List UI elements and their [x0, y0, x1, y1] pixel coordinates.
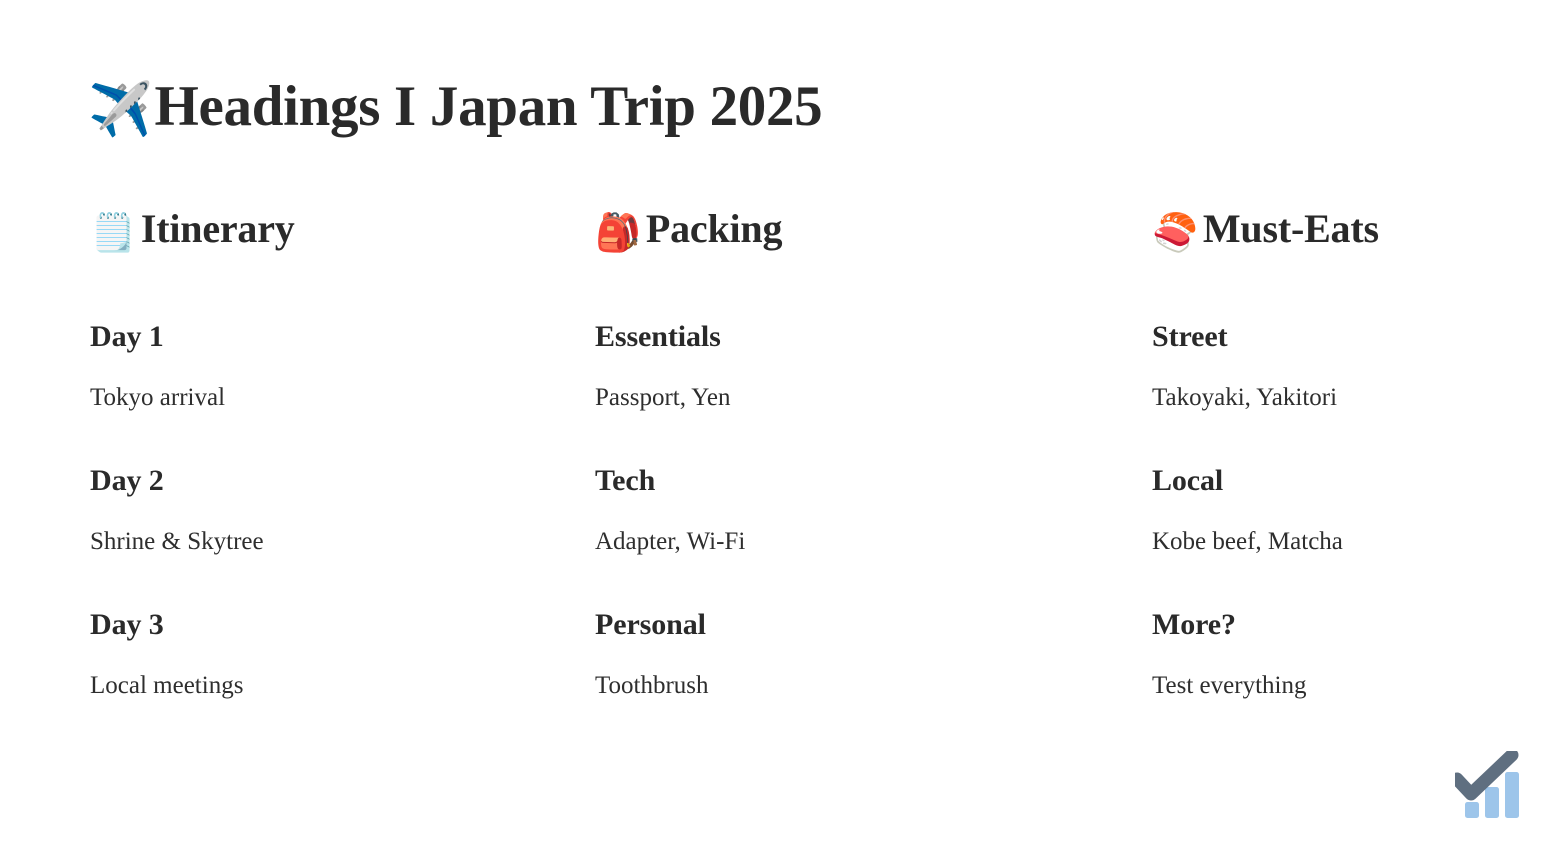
column-heading-itinerary: 🗒️Itinerary: [90, 205, 560, 253]
page-title-text: Headings I Japan Trip 2025: [154, 75, 822, 138]
entry-title: Local: [1152, 463, 1548, 499]
sushi-emoji: 🍣: [1152, 211, 1198, 254]
airplane-emoji: ✈️: [88, 80, 152, 140]
entry-body: Local meetings: [90, 671, 560, 701]
entry-title: Day 3: [90, 607, 560, 643]
entry-body: Kobe beef, Matcha: [1152, 527, 1548, 557]
entry-title: Street: [1152, 319, 1548, 355]
entry-title: More?: [1152, 607, 1548, 643]
document-page: ✈️Headings I Japan Trip 2025 🗒️Itinerary…: [0, 0, 1548, 848]
column-packing: 🎒Packing Essentials Passport, Yen Tech A…: [595, 205, 1065, 701]
column-heading-text: Must-Eats: [1203, 206, 1379, 251]
entry-title: Day 2: [90, 463, 560, 499]
entry-body: Test everything: [1152, 671, 1548, 701]
list-item: Personal Toothbrush: [595, 607, 1065, 701]
list-item: Day 2 Shrine & Skytree: [90, 463, 560, 557]
column-itinerary: 🗒️Itinerary Day 1 Tokyo arrival Day 2 Sh…: [90, 205, 560, 701]
entry-body: Takoyaki, Yakitori: [1152, 383, 1548, 413]
column-heading-text: Itinerary: [141, 206, 295, 251]
entry-title: Personal: [595, 607, 1065, 643]
entry-body: Shrine & Skytree: [90, 527, 560, 557]
entry-title: Day 1: [90, 319, 560, 355]
entry-body: Passport, Yen: [595, 383, 1065, 413]
list-item: Street Takoyaki, Yakitori: [1152, 319, 1548, 413]
list-item: More? Test everything: [1152, 607, 1548, 701]
entry-title: Tech: [595, 463, 1065, 499]
column-must-eats: 🍣Must-Eats Street Takoyaki, Yakitori Loc…: [1152, 205, 1548, 701]
entry-title: Essentials: [595, 319, 1065, 355]
entry-body: Tokyo arrival: [90, 383, 560, 413]
entry-body: Adapter, Wi-Fi: [595, 527, 1065, 557]
page-title: ✈️Headings I Japan Trip 2025: [88, 76, 822, 139]
list-item: Tech Adapter, Wi-Fi: [595, 463, 1065, 557]
entry-body: Toothbrush: [595, 671, 1065, 701]
column-heading-must-eats: 🍣Must-Eats: [1152, 205, 1548, 253]
list-item: Day 3 Local meetings: [90, 607, 560, 701]
column-heading-packing: 🎒Packing: [595, 205, 1065, 253]
backpack-emoji: 🎒: [595, 211, 641, 254]
checkmark-bar-chart-logo: [1455, 751, 1531, 821]
list-item: Local Kobe beef, Matcha: [1152, 463, 1548, 557]
column-heading-text: Packing: [646, 206, 782, 251]
list-item: Day 1 Tokyo arrival: [90, 319, 560, 413]
spiral-notepad-emoji: 🗒️: [90, 211, 136, 254]
list-item: Essentials Passport, Yen: [595, 319, 1065, 413]
